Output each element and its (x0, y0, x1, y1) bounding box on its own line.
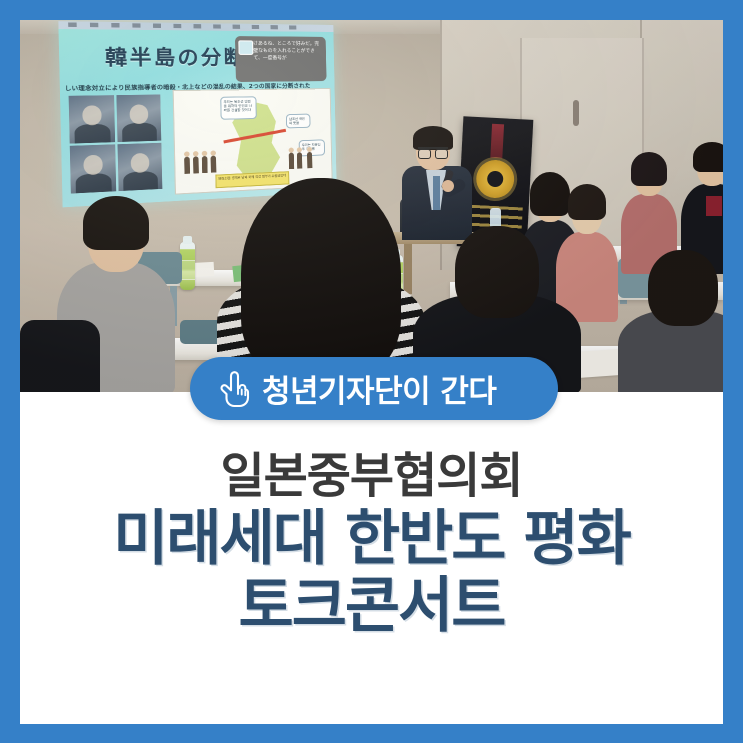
banner-emblem-icon (475, 159, 515, 199)
slide-portrait (118, 143, 163, 191)
slide-portrait (69, 95, 116, 143)
bottle-label (180, 260, 195, 280)
slide-portrait-grid (69, 95, 163, 194)
event-title-line-1: 미래세대 한반도 평화 (20, 507, 723, 572)
glasses-icon (418, 147, 448, 157)
poster-canvas: 韓半島の分断 けあるね、ところで好みだ。完璧なものを入れることができて、一度番号… (0, 0, 743, 743)
water-bottle (180, 242, 195, 290)
map-speech-bubble: 남조선 국민의 뜻을 (286, 114, 311, 129)
pointing-hand-icon (216, 370, 250, 408)
person-hair (83, 196, 149, 250)
person-hair (631, 152, 667, 186)
title-block: 일본중부협의회 미래세대 한반도 평화 토크콘서트 (20, 450, 723, 638)
map-figure-group (181, 136, 226, 174)
slide-toolbar-ticks (68, 22, 301, 29)
person-hair-long (241, 178, 401, 378)
map-figure (202, 156, 208, 173)
slide-note-badge-icon (238, 40, 253, 55)
poster-card: 韓半島の分断 けあるね、ところで好みだ。完璧なものを入れることができて、一度番号… (20, 20, 723, 724)
presenter-tie (433, 176, 440, 210)
map-figure (289, 153, 294, 169)
person-head-back (455, 226, 539, 318)
person-scarf (706, 196, 722, 216)
event-photo: 韓半島の分断 けあるね、ところで好みだ。完璧なものを入れることができて、一度番号… (20, 20, 723, 392)
slide-portrait (70, 144, 116, 193)
banner-stripe (490, 124, 504, 159)
audience-person-edge (20, 320, 100, 392)
person-hair (693, 142, 723, 172)
presenter-hand (442, 180, 454, 192)
section-badge[interactable]: 청년기자단이 간다 (190, 357, 558, 420)
organization-name: 일본중부협의회 (20, 450, 723, 503)
map-figure-group (286, 133, 321, 169)
person-head-back (648, 250, 718, 326)
map-speech-bubble: 우리는 북조선 인민을 위하여 인민의 나라를 건설할 것이다 (220, 96, 257, 120)
map-figure (184, 157, 190, 174)
map-figure (307, 152, 312, 168)
person-hair (568, 184, 606, 220)
map-figure (193, 156, 199, 173)
audience-person-foreground (618, 248, 723, 392)
door-handle-icon (573, 100, 579, 126)
map-figure (297, 152, 302, 168)
map-figure (211, 156, 217, 173)
badge-label: 청년기자단이 간다 (262, 366, 496, 411)
slide-title: 韓半島の分断 (105, 42, 247, 72)
event-title-line-2: 토크콘서트 (20, 574, 723, 639)
slide-portrait (116, 95, 161, 143)
